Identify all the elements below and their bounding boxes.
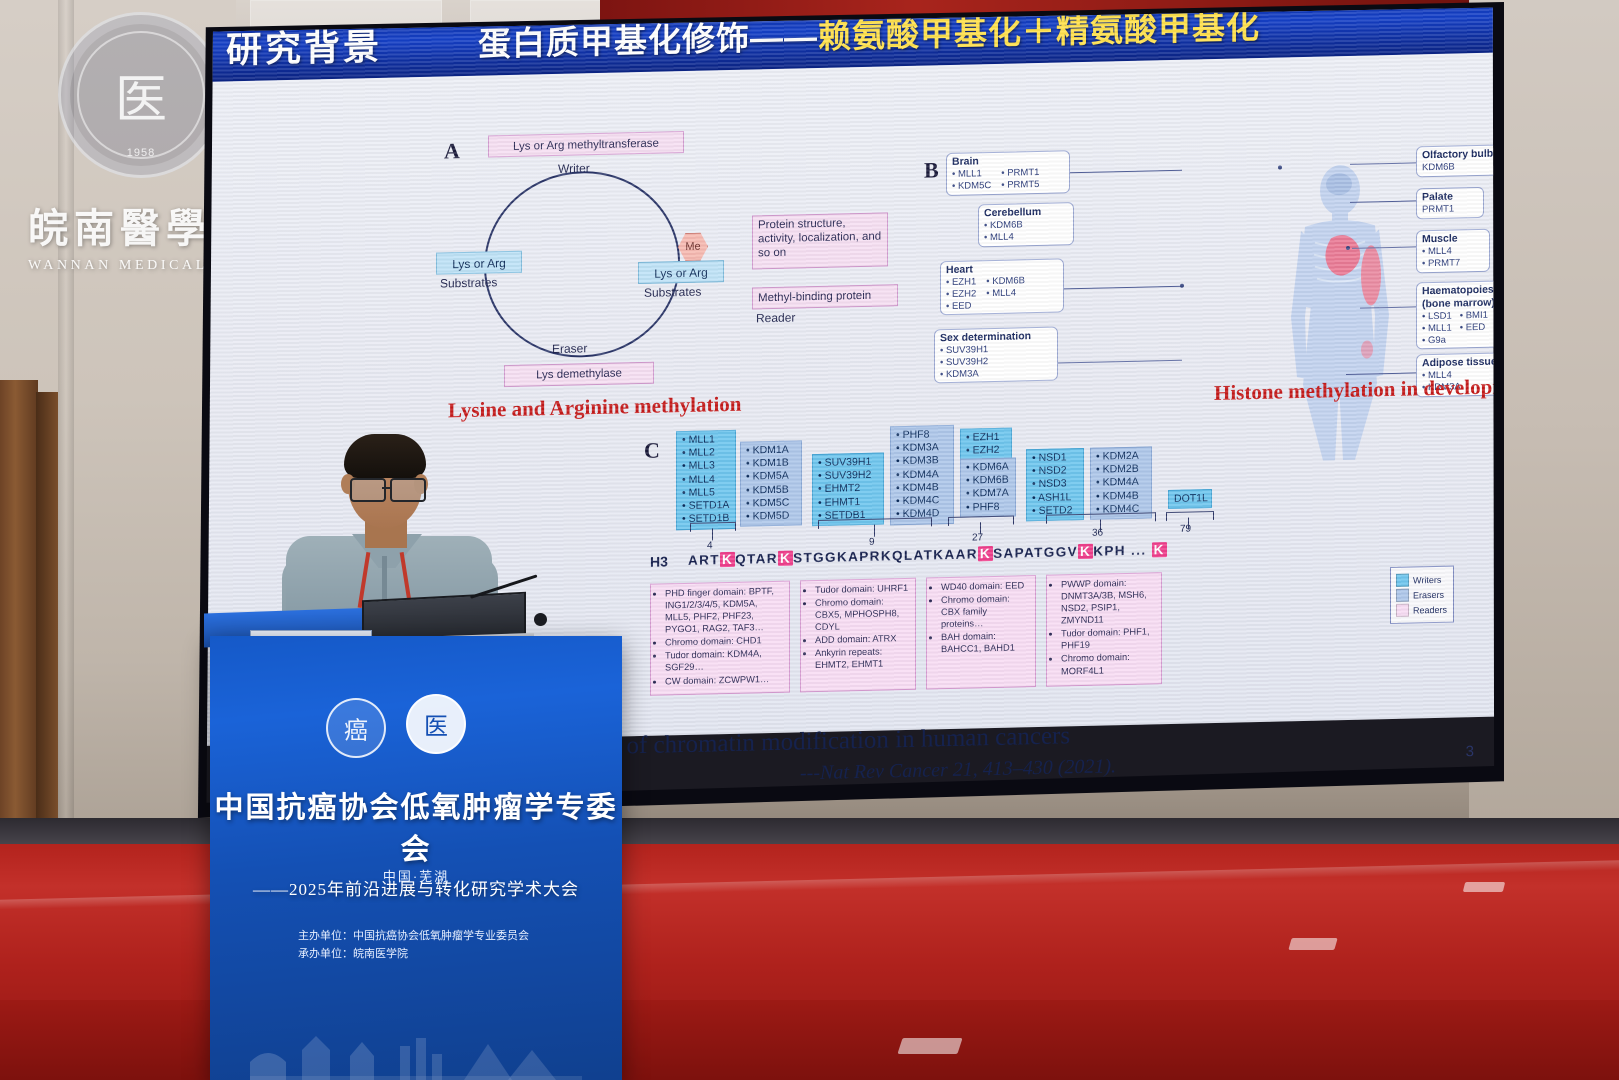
lysine-mark: K: [720, 552, 735, 567]
seal-glyph-right: 医: [424, 707, 448, 742]
conference-organizers: 主办单位：中国抗癌协会低氧肿瘤学专业委员会 承办单位：皖南医学院: [298, 928, 529, 963]
gene-item: • MLL4: [986, 287, 1016, 299]
gene-item: • ASH1L: [1032, 491, 1078, 505]
substrate-right-box: Lys or Arg: [638, 260, 724, 284]
enzyme-box-eraser-kdm6: • KDM6A • KDM6B • KDM7A • PHF8: [960, 457, 1016, 517]
domain-item: Tudor domain: UHRF1: [815, 582, 910, 596]
position-tick: [874, 525, 875, 537]
legend-swatch-writers: [1396, 574, 1409, 587]
conference-title-main: 中国抗癌协会低氧肿瘤学专委会: [210, 784, 622, 868]
tissue-name: Haematopoiesis (bone marrow): [1422, 283, 1503, 310]
position-label: 4: [707, 540, 713, 551]
conference-city: 中国·芜湖: [210, 866, 622, 885]
substrate-left-box: Lys or Arg: [436, 251, 522, 275]
tissue-name: Muscle: [1422, 232, 1458, 245]
gene-item: • SUV39H1: [818, 456, 878, 471]
legend-label: Erasers: [1413, 589, 1444, 600]
gene-item: • KDM5A: [746, 470, 796, 484]
eyeglasses-bridge: [382, 487, 391, 489]
gene-item: • KDM4B: [896, 481, 948, 495]
seal-year: 1958: [61, 147, 221, 159]
gene-item: • KDM4C: [896, 494, 948, 508]
organizer-host: 主办单位：中国抗癌协会低氧肿瘤学专业委员会: [298, 928, 529, 946]
domain-item: Tudor domain: PHF1, PHF19: [1061, 626, 1156, 652]
tissue-box-palate: Palate PRMT1: [1416, 187, 1484, 219]
gene-item: • MLL1: [682, 433, 730, 447]
gene-item: • MLL3: [682, 459, 730, 473]
eyeglasses-right-lens: [390, 478, 426, 502]
gene-item: • MLL4: [682, 473, 730, 487]
methyl-binding-protein-box: Methyl-binding protein: [752, 284, 898, 309]
gene-item: • KDM2B: [1096, 463, 1146, 477]
sequence-segment: SAPATGGV: [993, 544, 1078, 561]
domain-item: BAH domain: BAHCC1, BAHD1: [941, 629, 1030, 655]
histone-label: H3: [650, 553, 668, 569]
domain-item: Tudor domain: KDM4A, SGF29…: [665, 647, 784, 674]
domain-item: Ankyrin repeats: EHMT2, EHMT1: [815, 645, 910, 671]
sequence-bracket: [1166, 511, 1214, 521]
tissue-box-heart: Heart • EZH1 • EZH2 • EED • KDM6B • MLL4: [940, 258, 1064, 315]
domain-item: PWWP domain: DNMT3A/3B, MSH6, NSD2, PSIP…: [1061, 576, 1156, 626]
gene-item: • MLL5: [682, 486, 730, 500]
domain-list: PWWP domain: DNMT3A/3B, MSH6, NSD2, PSIP…: [1052, 576, 1156, 677]
lysine-mark: K: [1152, 542, 1167, 557]
domain-list: Tudor domain: UHRF1 Chromo domain: CBX5,…: [806, 582, 910, 672]
gene-item: • EZH2: [966, 444, 1006, 458]
microphone-head[interactable]: [534, 613, 547, 626]
legend-label: Readers: [1413, 604, 1447, 615]
domain-item: Chromo domain: CBX5, MPHOSPH8, CDYL: [815, 595, 910, 633]
domain-item: ADD domain: ATRX: [815, 632, 910, 646]
tissue-box-muscle: Muscle • MLL4 • PRMT7: [1416, 229, 1490, 273]
lysine-mark: K: [1078, 544, 1093, 559]
legend-row-writers: Writers: [1396, 573, 1448, 587]
gene-item: • KDM3A: [896, 441, 948, 455]
gene-item: • KDM6A: [966, 461, 1010, 475]
gene-item: • KDM5D: [746, 510, 796, 524]
gene-item: • PRMT1: [1001, 167, 1039, 179]
gene-item: • EZH1: [946, 276, 976, 288]
gene-item: • KDM4A: [1096, 476, 1146, 490]
gene-item: • EZH2: [946, 288, 976, 300]
floor-marker: [897, 1038, 962, 1054]
reader-domain-box-k9: Tudor domain: UHRF1 Chromo domain: CBX5,…: [800, 578, 916, 693]
enzyme-box-writer-mll: • MLL1 • MLL2 • MLL3 • MLL4 • MLL5 • SET…: [676, 430, 736, 530]
gene-item: • MLL1: [952, 168, 982, 180]
sequence-bracket: [690, 522, 736, 532]
gene-item: • NSD2: [1032, 464, 1078, 478]
gene-item: • KDM2A: [1096, 450, 1146, 464]
floor-marker: [1463, 882, 1505, 892]
gene-item: • PRMT7: [1422, 257, 1484, 270]
legend-swatch-readers: [1396, 604, 1409, 617]
tissue-name: Heart: [946, 263, 973, 276]
gene-item: • NSD1: [1032, 451, 1078, 465]
leader-line: [1058, 360, 1182, 364]
methyl-group-hexagon: Me: [678, 232, 708, 261]
enzyme-box-writer-nsd: • NSD1 • NSD2 • NSD3 • ASH1L • SETD2: [1026, 448, 1084, 521]
gene-item: • PRMT5: [1001, 179, 1039, 191]
enzyme-box-eraser-kdm2: • KDM2A • KDM2B • KDM4A • KDM4B • KDM4C: [1090, 446, 1152, 520]
legend-row-erasers: Erasers: [1396, 588, 1448, 602]
lysine-mark: K: [778, 551, 793, 566]
gene-item: • KDM3B: [896, 454, 948, 468]
sequence-bracket: [948, 516, 1014, 526]
domain-item: PHD finger domain: BPTF, ING1/2/3/4/5, K…: [665, 585, 784, 636]
domain-list: WD40 domain: EED Chromo domain: CBX fami…: [932, 579, 1030, 656]
gene-item: • SETD1A: [682, 499, 730, 513]
speaker-hair: [344, 434, 426, 478]
panel-c-legend: Writers Erasers Readers: [1390, 566, 1454, 624]
gene-item: • KDM3A: [940, 366, 1052, 380]
gene-item: • KDM1B: [746, 457, 796, 471]
gene-item: • EED: [1460, 322, 1486, 334]
gene-item: • KDM4B: [1096, 489, 1146, 503]
organizer-undertaker: 承办单位：皖南医学院: [298, 946, 529, 964]
panel-b-letter: B: [924, 157, 939, 183]
tissue-box-sex-determination: Sex determination • SUV39H1 • SUV39H2 • …: [934, 327, 1058, 384]
domain-list: PHD finger domain: BPTF, ING1/2/3/4/5, K…: [656, 585, 784, 688]
enzyme-box-writer-ezh: • EZH1 • EZH2: [960, 428, 1012, 462]
gene-item: • EHMT2: [818, 482, 878, 497]
enzyme-box-writer-suv39: • SUV39H1 • SUV39H2 • EHMT2 • EHMT1 • SE…: [812, 452, 884, 526]
eyeglasses-left-lens: [350, 478, 386, 502]
legend-row-readers: Readers: [1396, 603, 1448, 617]
tissue-name: Adipose tissue: [1422, 356, 1497, 370]
reader-domain-box-k36: PWWP domain: DNMT3A/3B, MSH6, NSD2, PSIP…: [1046, 572, 1162, 687]
college-seal-logo: 医 1958: [58, 12, 224, 178]
skyline-graphic: [250, 1010, 582, 1080]
gene-item: • EED: [946, 300, 972, 312]
legend-swatch-erasers: [1396, 589, 1409, 602]
human-body-silhouette: [1275, 163, 1405, 466]
side-door[interactable]: [0, 380, 38, 850]
eraser-enzyme-box: Lys demethylase: [504, 362, 654, 387]
tissue-name: Palate: [1422, 191, 1453, 204]
enzyme-box-eraser-kdm1: • KDM1A • KDM1B • KDM5A • KDM5B • KDM5C …: [740, 440, 802, 527]
domain-item: Chromo domain: MORF4L1: [1061, 651, 1156, 677]
leader-line: [1070, 170, 1182, 174]
lecture-hall-background: 医 1958 皖南醫學院 WANNAN MEDICAL COLLEGE 研究背景…: [0, 0, 1619, 1080]
tissue-name: Cerebellum: [984, 206, 1041, 219]
association-seal-left: 癌: [326, 698, 386, 758]
reader-domain-box-k4: PHD finger domain: BPTF, ING1/2/3/4/5, K…: [650, 581, 790, 696]
gene-item: • EZH1: [966, 431, 1006, 445]
podium-banner: 癌 医 中国抗癌协会低氧肿瘤学专委会 ——2025年前沿进展与转化研究学术大会 …: [210, 636, 622, 1080]
tissue-name: Brain: [952, 155, 979, 168]
tissue-name: Sex determination: [940, 330, 1031, 344]
tissue-box-cerebellum: Cerebellum • KDM6B • MLL4: [978, 202, 1074, 247]
sequence-segment: KPH ...: [1093, 542, 1151, 558]
domain-item: WD40 domain: EED: [941, 579, 1030, 593]
gene-item: • PHF8: [896, 428, 948, 442]
panel-b-caption: Histone methylation in development: [1214, 374, 1538, 406]
position-label: 36: [1092, 528, 1103, 539]
floor-marker: [1288, 938, 1337, 950]
sequence-segment: ART: [688, 552, 720, 568]
gene-item: KDM6B: [1422, 160, 1502, 174]
lysine-mark: K: [978, 546, 993, 561]
sequence-bracket: [1046, 512, 1156, 523]
tissue-name: Olfactory bulb: [1422, 148, 1493, 162]
position-tick: [712, 528, 713, 540]
leader-line: [1064, 286, 1182, 290]
gene-item: • MLL1: [1422, 322, 1452, 334]
gene-item: • KDM4A: [896, 468, 948, 482]
panel-c-letter: C: [644, 438, 660, 464]
domain-item: CW domain: ZCWPW1…: [665, 672, 784, 687]
sequence-bracket: [818, 517, 932, 529]
side-door-panel[interactable]: [36, 392, 58, 842]
eraser-label: Eraser: [552, 341, 587, 356]
position-label: 27: [972, 532, 983, 543]
tissue-box-brain: Brain • MLL1 • KDM5C • PRMT1 • PRMT5: [946, 150, 1070, 195]
gene-item: • KDM5C: [746, 496, 796, 510]
histone-h3-sequence: ARTKQTARKSTGGKAPRKQLATKAARKSAPATGGVKKPH …: [688, 542, 1167, 568]
substrate-left-caption: Substrates: [440, 275, 497, 290]
legend-label: Writers: [1413, 574, 1441, 585]
gene-item: • KDM6B: [966, 474, 1010, 488]
gene-item: • EHMT1: [818, 495, 878, 510]
leader-dot: [1180, 284, 1184, 288]
position-label: 79: [1180, 524, 1191, 535]
panel-a-caption: Lysine and Arginine methylation: [448, 392, 741, 424]
substrate-right-caption: Substrates: [644, 285, 701, 300]
gene-item: • KDM1A: [746, 443, 796, 457]
reader-label: Reader: [756, 310, 795, 325]
seal-glyph-left: 癌: [344, 711, 368, 746]
gene-item: • KDM5C: [952, 180, 991, 192]
body-svg: [1275, 163, 1405, 466]
gene-item: • G9a: [1422, 334, 1446, 346]
gene-item: • KDM6B: [986, 275, 1025, 287]
enzyme-box-writer-dot1l: DOT1L: [1168, 489, 1212, 509]
writer-enzyme-box: Lys or Arg methyltransferase: [488, 131, 684, 157]
sequence-segment: STGGKAPRKQLATKAAR: [793, 546, 978, 565]
gene-item: • MLL4: [984, 230, 1068, 244]
gene-item: • KDM5B: [746, 483, 796, 497]
gene-item: • BMI1: [1460, 310, 1488, 322]
gene-item: • KDM7A: [966, 487, 1010, 501]
panel-a-letter: A: [444, 138, 460, 164]
gene-item: • PHF8: [966, 500, 1010, 514]
reader-domain-box-k27: WD40 domain: EED Chromo domain: CBX fami…: [926, 575, 1036, 689]
domain-item: Chromo domain: CBX family proteins…: [941, 592, 1030, 630]
gene-item: PRMT1: [1422, 203, 1478, 216]
position-label: 9: [869, 537, 875, 548]
seal-glyph: 医: [115, 58, 167, 133]
sequence-segment: QTAR: [735, 551, 778, 567]
outcome-structure-box: Protein structure, activity, localizatio…: [752, 212, 888, 269]
gene-item: • MLL2: [682, 446, 730, 460]
gene-item: • NSD3: [1032, 478, 1078, 492]
slide-page-number: 3: [1466, 743, 1474, 760]
enzyme-box-eraser-kdm3-4: • PHF8 • KDM3A • KDM3B • KDM4A • KDM4B •…: [890, 425, 954, 525]
gene-item: • LSD1: [1422, 311, 1452, 323]
gene-item: • SUV39H2: [818, 469, 878, 484]
association-seal-right: 医: [406, 694, 466, 754]
